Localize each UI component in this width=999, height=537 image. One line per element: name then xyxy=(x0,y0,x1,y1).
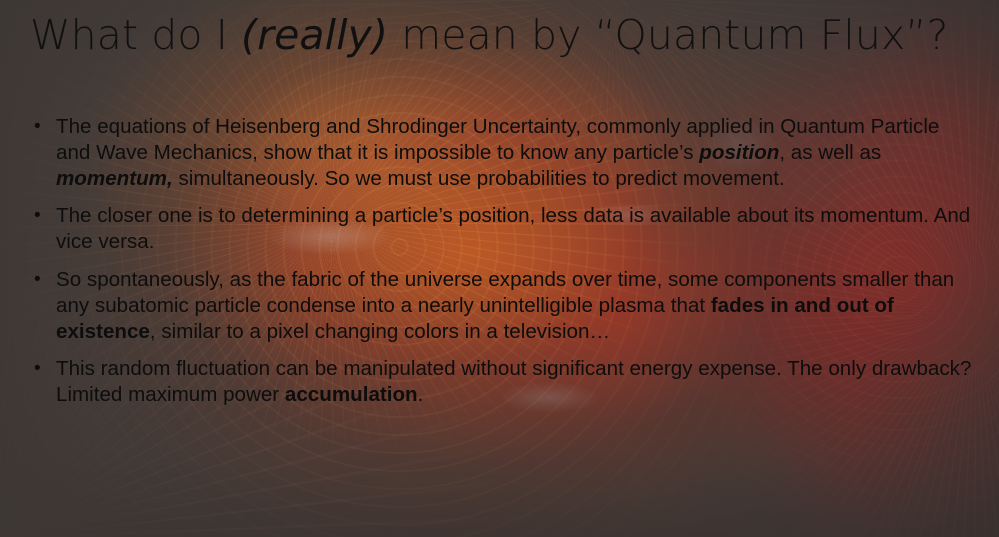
slide-title-prefix: What do I xyxy=(30,11,241,59)
bullet-marker-icon: • xyxy=(30,203,56,229)
slide-body: • The equations of Heisenberg and Shrodi… xyxy=(30,114,975,408)
bullet-text-plasma: So spontaneously, as the fabric of the u… xyxy=(56,267,975,344)
bullet-marker-icon: • xyxy=(30,356,56,382)
presentation-slide: What do I (really) mean by “Quantum Flux… xyxy=(0,0,999,537)
run-text-emphasis-accumulation: accumulation xyxy=(285,383,418,406)
bullet-item-plasma: • So spontaneously, as the fabric of the… xyxy=(30,267,975,344)
bullet-text-tradeoff: The closer one is to determining a parti… xyxy=(56,203,975,255)
run-text: The closer one is to determining a parti… xyxy=(56,204,970,253)
run-text-emphasis-momentum: momentum, xyxy=(56,167,173,190)
slide-title-suffix: mean by “Quantum Flux”? xyxy=(388,11,948,59)
run-text: This random fluctuation can be manipulat… xyxy=(56,357,971,406)
bullet-text-drawback: This random fluctuation can be manipulat… xyxy=(56,356,975,408)
run-text: simultaneously. So we must use probabili… xyxy=(173,167,785,190)
run-text: , as well as xyxy=(779,141,881,164)
run-text: . xyxy=(418,383,424,406)
slide-title: What do I (really) mean by “Quantum Flux… xyxy=(30,10,970,61)
run-text-emphasis-position: position xyxy=(699,141,779,164)
bullet-text-uncertainty: The equations of Heisenberg and Shroding… xyxy=(56,114,975,191)
slide-title-emphasis: (really) xyxy=(241,11,388,59)
bullet-marker-icon: • xyxy=(30,114,56,140)
run-text: , similar to a pixel changing colors in … xyxy=(150,320,610,343)
bullet-item-tradeoff: • The closer one is to determining a par… xyxy=(30,203,975,255)
bullet-item-uncertainty: • The equations of Heisenberg and Shrodi… xyxy=(30,114,975,191)
bullet-item-drawback: • This random fluctuation can be manipul… xyxy=(30,356,975,408)
bullet-marker-icon: • xyxy=(30,267,56,293)
